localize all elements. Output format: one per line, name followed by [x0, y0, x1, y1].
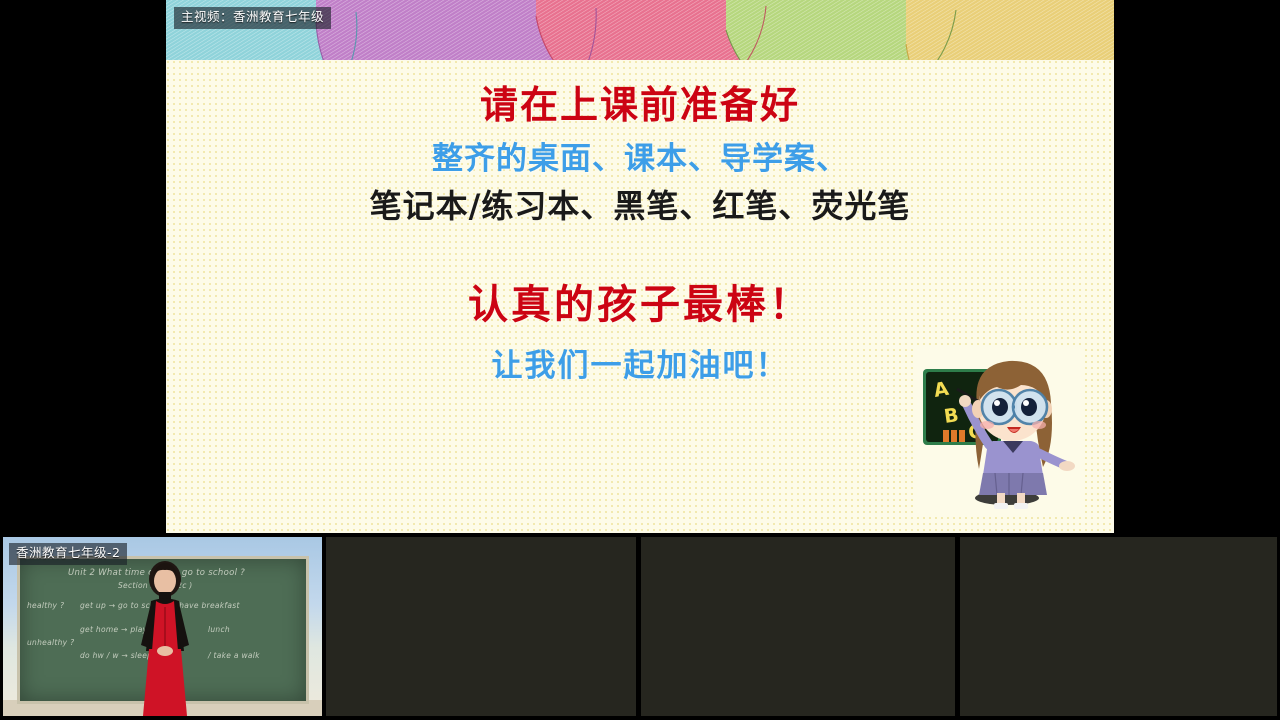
slide-line-materials-2: 笔记本/练习本、黑笔、红笔、荧光笔 — [166, 181, 1114, 227]
main-video-panel[interactable]: 请在上课前准备好 整齐的桌面、课本、导学案、 笔记本/练习本、黑笔、红笔、荧光笔… — [166, 0, 1114, 533]
chalk-line-3: healthy ? — [27, 601, 64, 610]
screen-root: 请在上课前准备好 整齐的桌面、课本、导学案、 笔记本/练习本、黑笔、红笔、荧光笔… — [0, 0, 1280, 720]
main-video-label: 主视频：香洲教育七年级 — [174, 7, 331, 29]
chalk-line-6: unhealthy ? — [27, 638, 74, 647]
slide-line-materials-1: 整齐的桌面、课本、导学案、 — [166, 133, 1114, 178]
chalk-line-8: lunch — [208, 625, 230, 634]
filmstrip-cell-teacher[interactable]: Unit 2 What time do you go to school ? S… — [3, 537, 322, 716]
filmstrip-cell-empty-3[interactable] — [641, 537, 955, 716]
schoolgirl-svg: A B C — [917, 345, 1082, 515]
chalk-line-9: / take a walk — [208, 651, 260, 660]
slide-line-encouragement-1: 认真的孩子最棒！ — [166, 272, 1114, 330]
filmstrip-cell-empty-4[interactable] — [960, 537, 1277, 716]
cartoon-schoolgirl-clipart: A B C — [917, 345, 1082, 515]
svg-text:B: B — [943, 404, 960, 428]
camera-filmstrip: Unit 2 What time do you go to school ? S… — [0, 533, 1280, 720]
filmstrip-cell-empty-2[interactable] — [326, 537, 636, 716]
teacher-figure — [127, 559, 203, 716]
teacher-svg — [127, 559, 203, 716]
filmstrip-cell-teacher-label: 香洲教育七年级-2 — [9, 543, 127, 565]
slide-line-title: 请在上课前准备好 — [166, 74, 1114, 129]
